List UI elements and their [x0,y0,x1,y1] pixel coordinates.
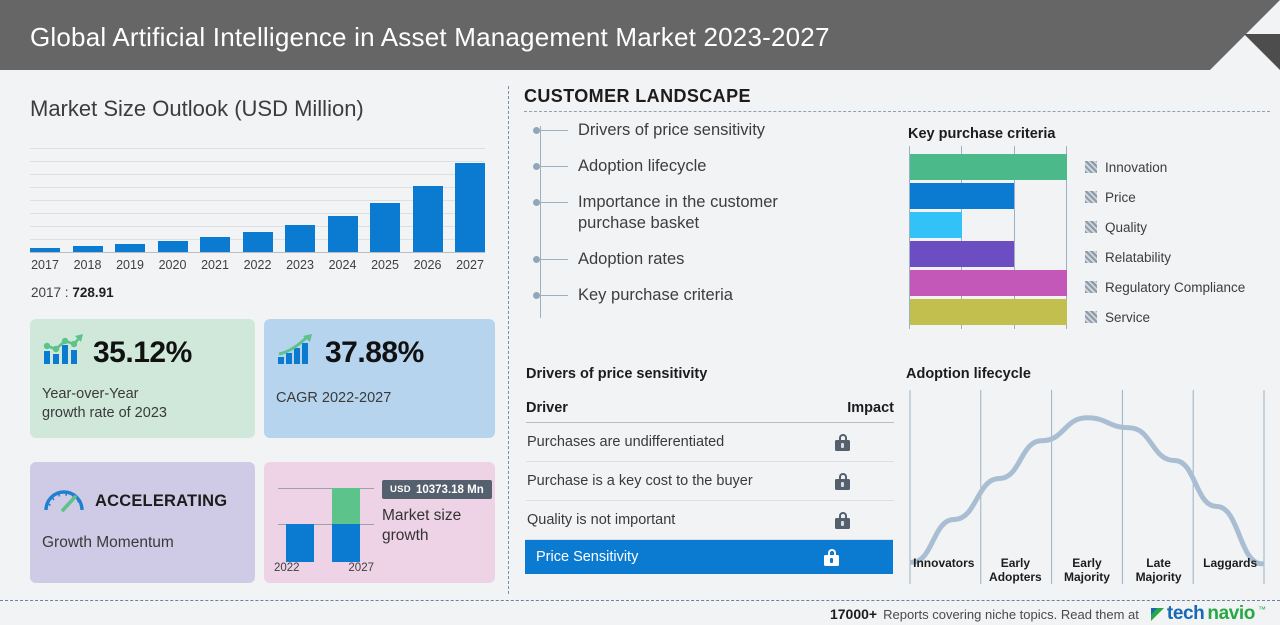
hatched-swatch-icon [1085,191,1097,203]
hatched-swatch-icon [1085,251,1097,263]
market-bar-2020 [158,241,188,252]
kpc-bar-price [910,183,1014,209]
market-bar-2022 [243,232,273,252]
drivers-table-header: Driver Impact [526,394,894,423]
key-purchase-criteria-legend: InnovationPriceQualityRelatabilityRegula… [1085,152,1280,332]
customer-landscape-item-3[interactable]: Adoption rates [536,249,886,270]
connector-line [540,259,568,260]
connector-line [540,202,568,203]
kpc-legend-item-0: Innovation [1085,152,1280,182]
key-purchase-criteria-title: Key purchase criteria [908,126,1056,142]
adoption-lifecycle-title: Adoption lifecycle [906,366,1031,382]
market-size-outlook-title: Market Size Outlook (USD Million) [30,96,364,122]
market-x-label-2024: 2024 [328,258,358,278]
kpc-legend-label: Innovation [1105,160,1167,175]
market-size-outlook-chart [30,148,485,253]
card-market-size-growth: 2022 2027 USD 10373.18 Mn Market size gr… [264,462,495,583]
vertical-divider [508,86,509,594]
gauge-icon [42,484,86,519]
page-title: Global Artificial Intelligence in Asset … [30,22,830,53]
customer-landscape-list: Drivers of price sensitivityAdoption lif… [536,120,886,321]
driver-name: Purchase is a key cost to the buyer [526,473,753,489]
market-bar-2019 [115,244,145,252]
hatched-swatch-icon [1085,161,1097,173]
market-x-label-2021: 2021 [200,258,230,278]
kpc-legend-item-4: Regulatory Compliance [1085,272,1280,302]
connector-line [540,295,568,296]
adoption-lifecycle-chart [908,390,1266,584]
market-x-label-2025: 2025 [370,258,400,278]
momentum-row: ACCELERATING [42,484,227,519]
drivers-table-title: Drivers of price sensitivity [526,366,707,382]
customer-landscape-item-4[interactable]: Key purchase criteria [536,285,886,306]
technavio-logo[interactable]: tech navio ™ [1151,603,1266,625]
footer-content: 17000+ Reports covering niche topics. Re… [830,603,1266,625]
drivers-table-body: Purchases are undifferentiatedPurchase i… [526,423,894,574]
bullet-dot-icon [533,292,540,299]
bullet-dot-icon [533,256,540,263]
customer-landscape-underline [524,111,1270,112]
column-header-driver: Driver [526,400,568,416]
bullet-dot-icon [533,127,540,134]
customer-landscape-item-label: Key purchase criteria [578,285,733,306]
market-bar-2021 [200,237,230,252]
driver-row-0[interactable]: Purchases are undifferentiated [526,423,894,462]
growth-caption-line2: growth [382,526,461,546]
yoy-caption: Year-over-Year growth rate of 2023 [42,385,247,423]
connector-line [540,166,568,167]
drivers-table: Driver Impact Purchases are undifferenti… [526,394,894,574]
customer-landscape-item-label: Adoption rates [578,249,684,270]
market-x-label-2022: 2022 [243,258,273,278]
growth-caption-line1: Market size [382,506,461,526]
kpc-bar-service [910,299,1067,325]
bar-chart-up-icon [42,333,84,372]
driver-row-1[interactable]: Purchase is a key cost to the buyer [526,462,894,501]
kpc-bar-quality [910,212,962,238]
kpc-legend-item-3: Relatability [1085,242,1280,272]
kpc-legend-label: Price [1105,190,1136,205]
cagr-value: 37.88% [325,336,424,370]
page-header: Global Artificial Intelligence in Asset … [0,0,1280,70]
usd-amount: 10373.18 Mn [416,484,484,496]
card-yoy-growth: 35.12% Year-over-Year growth rate of 202… [30,319,255,438]
market-bar-2025 [370,203,400,252]
growth-chart-ticks: 2022 2027 [274,562,374,574]
hatched-swatch-icon [1085,281,1097,293]
market-x-label-2019: 2019 [115,258,145,278]
chart-axis [30,252,485,253]
kpc-legend-label: Service [1105,310,1150,325]
kpc-legend-label: Regulatory Compliance [1105,280,1245,295]
kpc-legend-item-5: Service [1085,302,1280,332]
market-bar-2024 [328,216,358,252]
customer-landscape-item-label: Adoption lifecycle [578,156,706,177]
kpc-legend-label: Relatability [1105,250,1171,265]
connector-line [540,130,568,131]
market-x-label-2020: 2020 [158,258,188,278]
driver-row-3[interactable]: Price Sensitivity [525,540,893,574]
customer-landscape-item-label: Drivers of price sensitivity [578,120,765,141]
technavio-mark-icon [1151,608,1164,621]
customer-landscape-item-label: Importance in the customer purchase bask… [578,192,823,234]
card-cagr: 37.88% CAGR 2022-2027 [264,319,495,438]
yoy-stat-row: 35.12% [42,333,192,372]
market-first-year-note: 2017 : 728.91 [31,285,114,300]
note-label: 2017 : [31,285,69,300]
kpc-bar-regulatory-compliance [910,270,1067,296]
adoption-stage-2: EarlyMajority [1051,556,1123,584]
customer-landscape-title: CUSTOMER LANDSCAPE [524,86,751,107]
bullet-dot-icon [533,163,540,170]
driver-row-2[interactable]: Quality is not important [526,501,894,540]
adoption-stage-3: LateMajority [1123,556,1195,584]
yoy-caption-line1: Year-over-Year [42,385,247,404]
market-x-label-2018: 2018 [73,258,103,278]
growth-arrow-bars-icon [276,333,316,372]
market-x-label-2026: 2026 [413,258,443,278]
lock-icon [835,434,850,451]
column-header-impact: Impact [847,400,894,416]
growth-bar-2027-base [332,524,360,562]
bullet-dot-icon [533,199,540,206]
report-count: 17000+ [830,606,877,622]
driver-name: Quality is not important [526,512,675,528]
logo-text-navio: navio [1207,603,1255,625]
adoption-stage-1: EarlyAdopters [980,556,1052,584]
market-x-label-2023: 2023 [285,258,315,278]
customer-landscape-item-0[interactable]: Drivers of price sensitivity [536,120,886,141]
market-size-growth-chart [278,480,374,562]
growth-bar-2022 [286,524,314,562]
market-x-label-2017: 2017 [30,258,60,278]
market-bar-2023 [285,225,315,252]
note-value: 728.91 [72,285,113,300]
adoption-curve-svg [908,390,1266,584]
market-x-label-2027: 2027 [455,258,485,278]
growth-bar-2027-delta [332,488,360,524]
market-chart-x-labels: 2017201820192020202120222023202420252026… [30,258,485,278]
usd-currency-label: USD [390,484,411,495]
yoy-caption-line2: growth rate of 2023 [42,404,247,423]
key-purchase-criteria-chart [909,146,1068,329]
kpc-legend-label: Quality [1105,220,1147,235]
footer-text: Reports covering niche topics. Read them… [883,607,1139,622]
page-footer: 17000+ Reports covering niche topics. Re… [0,600,1280,624]
usd-value-badge: USD 10373.18 Mn [382,480,492,499]
logo-text-tech: tech [1167,603,1204,625]
growth-tick-start: 2022 [274,562,300,574]
market-bar-2027 [455,163,485,252]
driver-name: Purchases are undifferentiated [526,434,724,450]
corner-fold-decoration [1210,0,1280,70]
left-panel: Market Size Outlook (USD Million) 201720… [0,70,508,600]
market-size-growth-caption: Market size growth [382,506,461,546]
lock-icon [835,512,850,529]
customer-landscape-item-1[interactable]: Adoption lifecycle [536,156,886,177]
lock-icon [824,549,839,566]
cagr-caption: CAGR 2022-2027 [276,389,487,408]
customer-landscape-item-2[interactable]: Importance in the customer purchase bask… [536,192,886,234]
kpc-bar-innovation [910,154,1067,180]
kpc-legend-item-2: Quality [1085,212,1280,242]
card-growth-momentum: ACCELERATING Growth Momentum [30,462,255,583]
hatched-swatch-icon [1085,311,1097,323]
adoption-stage-4: Laggards [1194,556,1266,584]
momentum-label: ACCELERATING [95,492,227,511]
adoption-lifecycle-labels: InnovatorsEarlyAdoptersEarlyMajorityLate… [908,556,1266,584]
cagr-stat-row: 37.88% [276,333,424,372]
momentum-caption: Growth Momentum [42,534,174,552]
adoption-stage-0: Innovators [908,556,980,584]
kpc-bar-relatability [910,241,1014,267]
chart-bars [30,148,485,252]
market-bar-2026 [413,186,443,252]
driver-name: Price Sensitivity [535,549,638,565]
kpc-legend-item-1: Price [1085,182,1280,212]
logo-trademark: ™ [1258,605,1266,614]
yoy-value: 35.12% [93,336,192,370]
lock-icon [835,473,850,490]
growth-tick-end: 2027 [348,562,374,574]
hatched-swatch-icon [1085,221,1097,233]
